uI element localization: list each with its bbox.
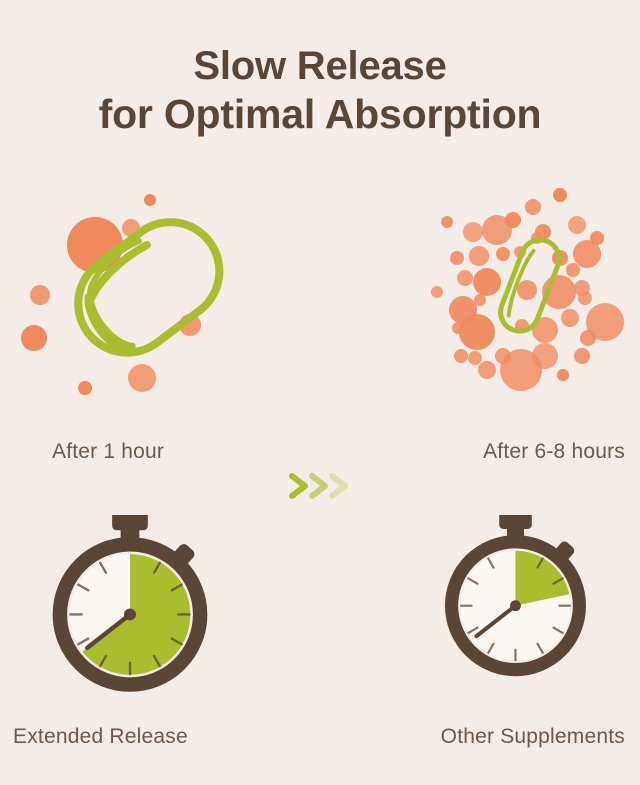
page-title: Slow Release for Optimal Absorption [0,42,640,139]
stopwatch-extended-release [45,515,215,700]
caption-after-1-hour: After 1 hour [52,440,164,464]
stopwatch-hand-pivot [124,609,136,621]
particle-dot [578,291,592,305]
comparison-illustration-stage [0,170,640,440]
particle-dot [78,381,92,395]
caption-extended-release: Extended Release [13,725,188,749]
title-line-1: Slow Release [0,42,640,90]
particle-dot [30,285,50,305]
particle-dot [144,194,156,206]
stopwatch-hand-pivot [510,600,521,611]
infographic-root: Slow Release for Optimal Absorption [0,0,640,785]
particle-dot [557,369,569,381]
particle-dot [525,199,541,215]
chevron-arrows-right-icon [286,466,356,506]
particle-dot [574,348,590,364]
intact-capsule-icon [52,208,242,373]
stopwatch-other-supplements [438,515,593,685]
particle-dot [580,330,596,346]
caption-after-6-8-hours: After 6-8 hours [483,440,625,464]
title-line-2: for Optimal Absorption [0,90,640,139]
particle-dot [21,325,47,351]
particle-dot [450,251,464,265]
caption-other-supplements: Other Supplements [441,725,625,749]
scene-after-dissolution [425,170,640,430]
particle-dot [431,286,443,298]
particle-dot [478,361,496,379]
particle-dot [457,270,473,286]
particle-dot [454,349,468,363]
particle-dot [441,216,453,228]
particle-dot [553,188,567,202]
scene-before-dissolution [10,170,275,430]
dissolving-capsule-icon [480,228,580,343]
particle-dot [500,349,542,391]
